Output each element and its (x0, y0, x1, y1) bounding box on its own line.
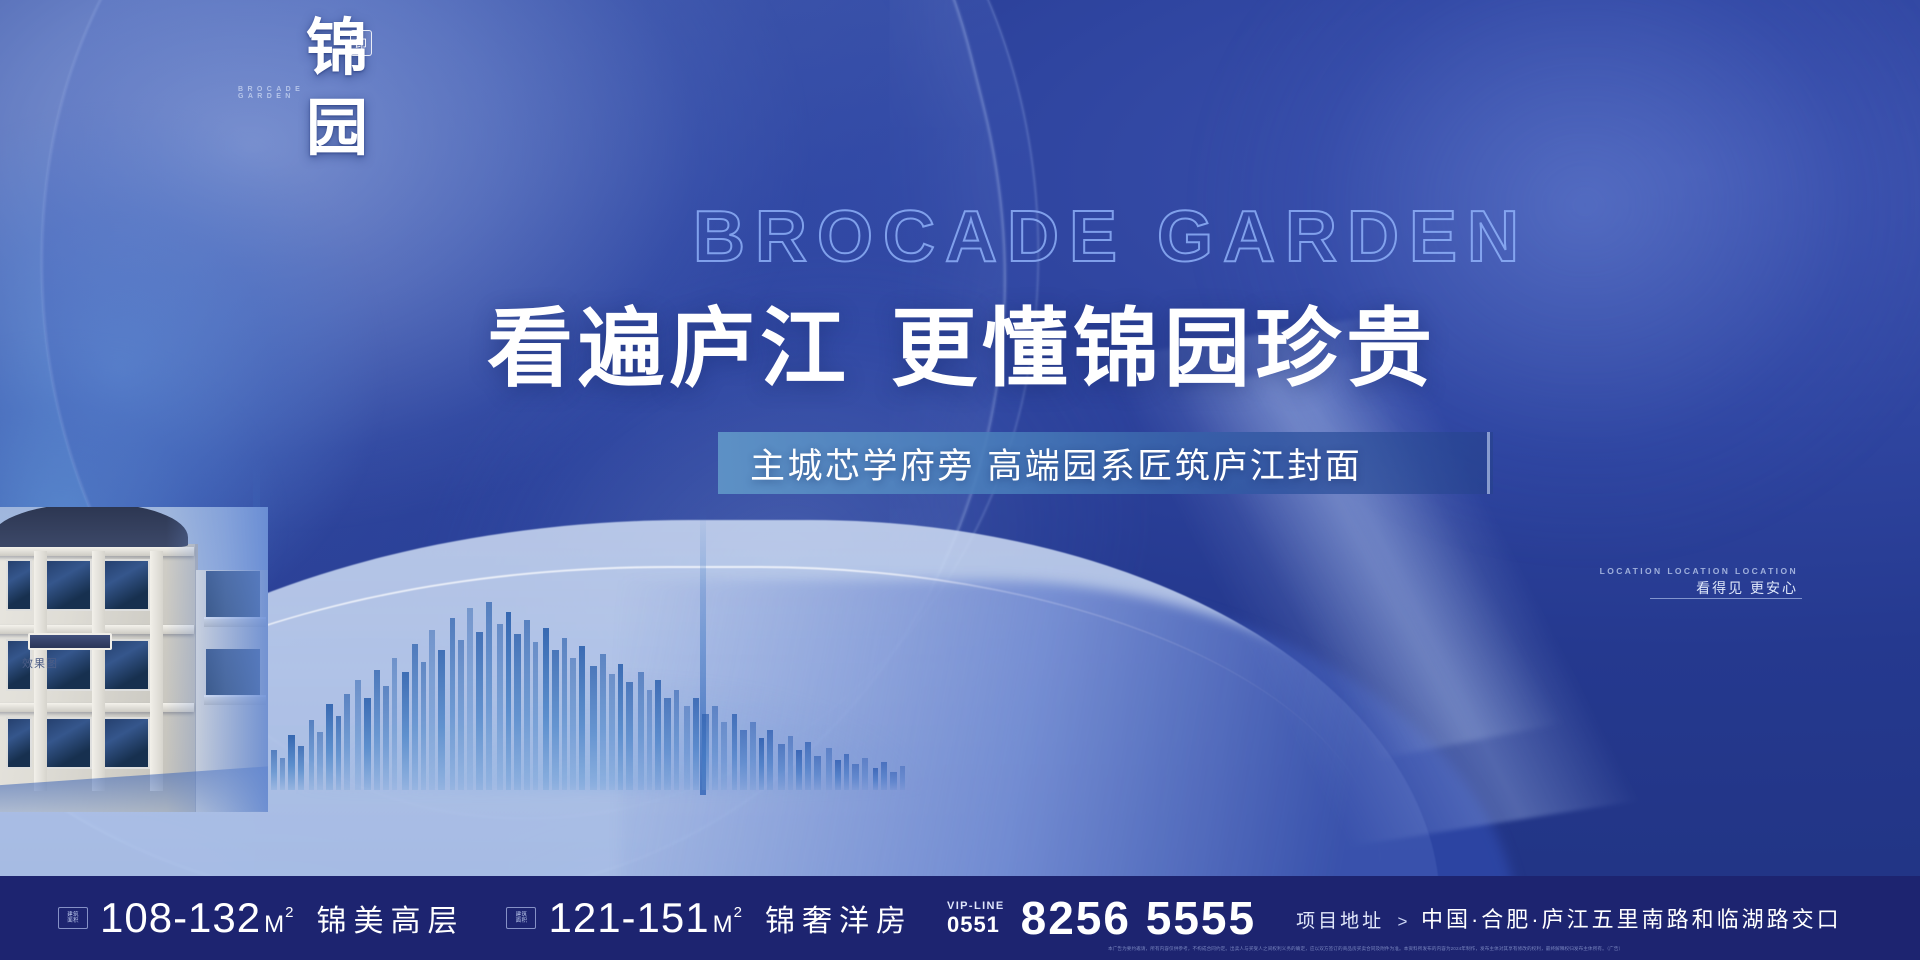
hero-sub-banner-rule (1487, 432, 1490, 494)
product-a-unit-sup: 2 (285, 904, 294, 921)
building-window (6, 559, 32, 611)
location-tagline-underline (1650, 598, 1802, 599)
brand-logo[interactable]: 锦 印 BROCADE GARDEN 园 (238, 14, 368, 166)
vip-line-label: VIP-LINE (947, 901, 1005, 912)
building-window (6, 717, 32, 769)
headline-segment-2: 更懂锦园珍贵 (891, 301, 1437, 397)
product-a-group: 建筑 面积 108-132M2 锦美高层 (58, 894, 464, 942)
product-a-name: 锦美高层 (316, 896, 464, 940)
project-address-value: 中国·合肥·庐江五里南路和临湖路交口 (1421, 907, 1842, 932)
product-a-size-value: 108-132 (100, 894, 261, 941)
building-roof (0, 507, 188, 547)
area-badge-line2: 面积 (516, 918, 528, 924)
area-badge-icon: 建筑 面积 (58, 907, 88, 929)
product-b-unit: M (713, 911, 734, 938)
hero-sub-banner-text: 主城芯学府旁 高端园系匠筑庐江封面 (750, 438, 1362, 489)
building-column (34, 551, 47, 791)
building-window (102, 559, 150, 611)
building-awning (28, 633, 112, 650)
hero-sub-banner: 主城芯学府旁 高端园系匠筑庐江封面 (718, 432, 1493, 494)
vip-line-block: VIP-LINE 0551 (947, 901, 1005, 936)
building-column (150, 551, 163, 791)
chevron-right-icon: > (1398, 912, 1408, 931)
product-b-size: 121-151M2 (548, 894, 742, 942)
bottom-info-bar: 建筑 面积 108-132M2 锦美高层 建筑 面积 121-151M2 锦奢洋… (0, 876, 1920, 960)
area-badge-icon: 建筑 面积 (506, 907, 536, 929)
logo-character-bottom: 园 (306, 98, 368, 160)
building-window (102, 717, 150, 769)
area-badge-line2: 面积 (67, 918, 79, 924)
logo-seal-icon: 印 (350, 30, 372, 56)
legal-disclaimer: 本广告为要约邀请，所有内容仅供参考，不构成合同约定。出卖人与买受人之间权利义务的… (1108, 946, 1908, 952)
product-b-unit-sup: 2 (734, 904, 743, 921)
location-tagline-cn: 看得见 更安心 (1696, 578, 1798, 598)
hero-headline: 看遍庐江更懂锦园珍贵 (487, 278, 1437, 403)
product-a-unit: M (264, 911, 285, 938)
building-window (44, 559, 92, 611)
render-disclaimer-label: 效果图 (22, 655, 58, 671)
project-address-block: 项目地址 > 中国·合肥·庐江五里南路和临湖路交口 (1296, 902, 1842, 934)
hero-outline-title: BROCADE GARDEN (693, 196, 1529, 278)
vip-area-code: 0551 (947, 914, 1005, 936)
product-b-size-value: 121-151 (548, 894, 709, 941)
product-b-name: 锦奢洋房 (765, 896, 913, 940)
poster-canvas: 锦 印 BROCADE GARDEN 园 BROCADE GARDEN 看遍庐江… (0, 0, 1920, 960)
location-tagline-en: LOCATION LOCATION LOCATION (1600, 566, 1798, 576)
building-edge-fade (166, 507, 268, 812)
project-address-label: 项目地址 (1296, 911, 1384, 932)
headline-segment-1: 看遍庐江 (487, 301, 851, 397)
building-column (92, 551, 105, 791)
sales-phone-number[interactable]: 8256 5555 (1021, 891, 1256, 945)
product-a-size: 108-132M2 (100, 894, 294, 942)
building-window (44, 717, 92, 769)
product-b-group: 建筑 面积 121-151M2 锦奢洋房 (506, 894, 912, 942)
